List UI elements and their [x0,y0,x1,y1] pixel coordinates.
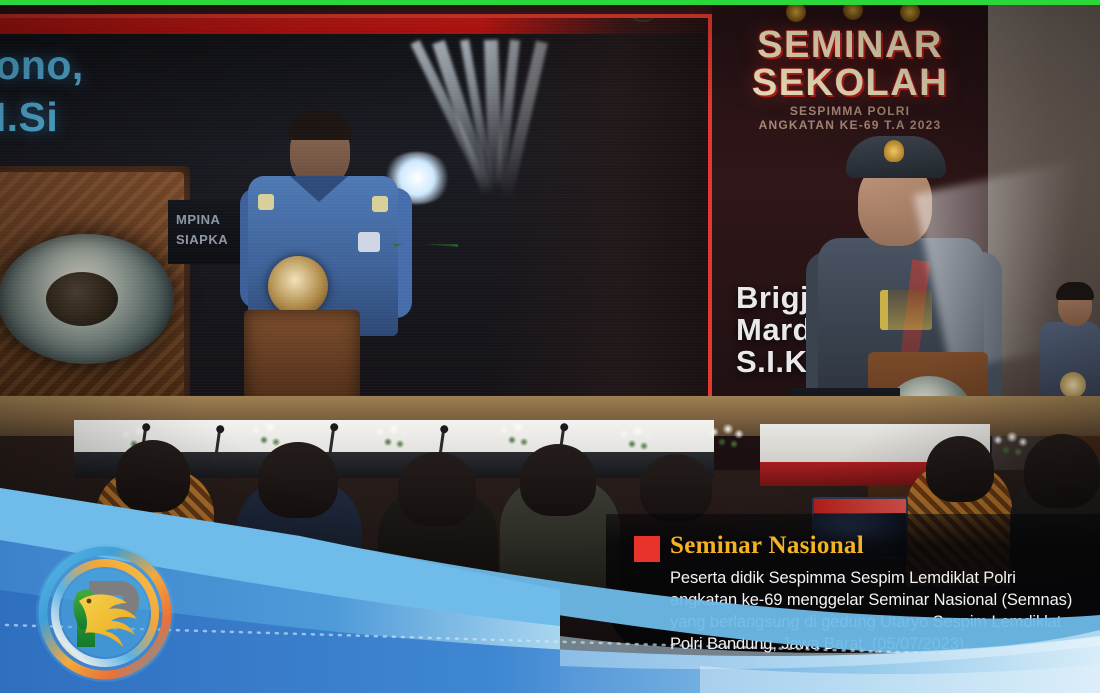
right-speaker-hair [1056,282,1094,300]
caption-panel: Seminar Nasional Peserta didik Sespimma … [606,514,1100,658]
led-inner-banner-line2: SIAPKA [176,232,228,247]
led-projection-screen: SEKOLAH SESPIMMA POLRI Unggul yono, M.Si… [0,14,712,400]
led-inner-banner-line1: MPINA [176,212,220,227]
gong-boss [46,272,118,326]
red-square-marker-icon [634,536,660,562]
audience-head [1024,434,1100,508]
led-banner-sponsor-text: Unggul [542,14,605,16]
wooden-podium [244,310,360,400]
officer-cap-badge-icon [884,140,904,162]
led-speaker-name-line1: yono, [0,44,84,87]
speaker-shoulder-badge [258,194,274,210]
poster-title-line1: SEMINAR [712,24,988,67]
news-photo-card: SEKOLAH SESPIMMA POLRI Unggul yono, M.Si… [0,0,1100,693]
audience-head [258,442,338,518]
led-speaker-name-line2: M.Si [0,96,58,139]
caption-body: Peserta didik Sespimma Sespim Lemdiklat … [670,568,1082,656]
podium-emblem-icon [268,256,328,316]
flower-arrangement [616,424,656,458]
poster-subtitle-line2: ANGKATAN KE-69 T.A 2023 [712,118,988,132]
poster-subtitle-line1: SESPIMMA POLRI [712,104,988,118]
audience-head [640,454,712,522]
flower-arrangement [990,430,1030,464]
top-green-strip [0,0,1100,5]
speaker-shoulder-badge [372,196,388,212]
decorative-plant [394,244,458,394]
audience-head [926,436,994,502]
speaker-hair [288,110,352,140]
right-podium-emblem-icon [1060,372,1086,398]
laptop-screen-header [814,499,906,513]
flower-arrangement [496,420,536,454]
brand-logo[interactable] [33,541,177,685]
flower-arrangement [706,422,746,456]
logo-bird-eye [87,599,92,604]
audience-head [116,440,190,512]
led-screen-falloff [480,18,712,400]
flower-arrangement [372,422,412,456]
speaker-name-tag [358,232,380,252]
audience-head [398,452,476,526]
caption-title: Seminar Nasional [670,532,864,560]
poster-title-line2: SEKOLAH [712,62,988,105]
officer-medals-icon [880,290,932,330]
audience-head [520,444,596,516]
led-banner-title: SEKOLAH SESPIMMA POLRI [180,14,519,19]
